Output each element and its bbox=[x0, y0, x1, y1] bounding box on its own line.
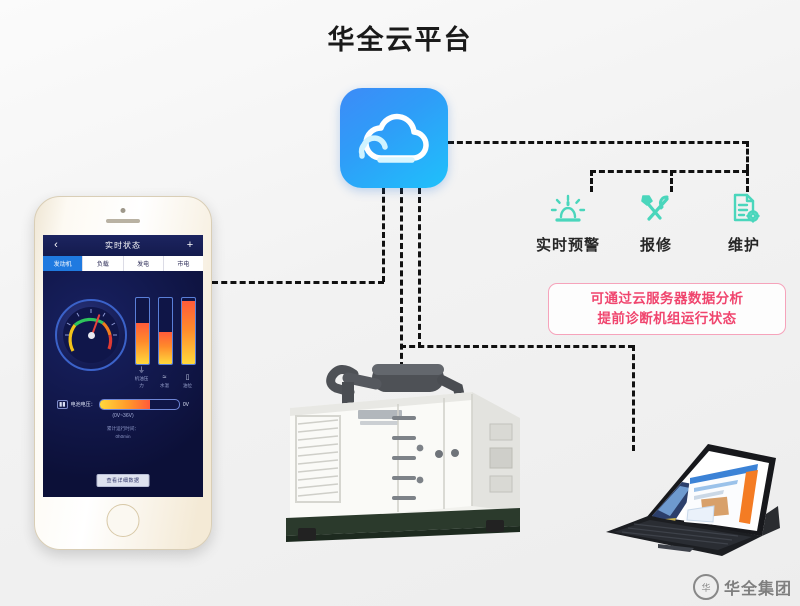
smartphone-device: ‹ 实时状态 + 发动机 负载 发电 市电 bbox=[34, 196, 212, 550]
service-item-alarm[interactable]: 实时预警 bbox=[528, 188, 608, 255]
app-tab-bar: 发动机 负载 发电 市电 bbox=[43, 256, 203, 271]
note-line-2: 提前诊断机组运行状态 bbox=[553, 309, 781, 329]
service-icon-group: 实时预警 报修 bbox=[528, 188, 784, 258]
tab-generation[interactable]: 发电 bbox=[124, 256, 164, 271]
battery-voltage-value: 0V bbox=[183, 402, 189, 408]
watermark-logo-icon: 华 bbox=[693, 574, 719, 600]
battery-icon: ▮▮ bbox=[57, 400, 68, 409]
oil-pressure-icon: ⏚ bbox=[133, 366, 150, 375]
add-icon[interactable]: + bbox=[183, 240, 197, 251]
tab-engine[interactable]: 发动机 bbox=[43, 256, 83, 271]
tab-load[interactable]: 负载 bbox=[83, 256, 123, 271]
service-label-alarm: 实时预警 bbox=[528, 234, 608, 255]
connector-cloud-to-phone bbox=[212, 281, 384, 284]
view-detail-button[interactable]: 查看详细数据 bbox=[96, 474, 149, 487]
bar-gauge-group: ⏚ 机油压力 ≈ 水温 ▯ 油位 bbox=[135, 293, 197, 389]
connector-cloud-down-a bbox=[382, 188, 385, 282]
front-camera bbox=[121, 208, 126, 213]
analysis-note-box: 可通过云服务器数据分析 提前诊断机组运行状态 bbox=[548, 283, 786, 335]
bar-fuel-level bbox=[181, 297, 196, 365]
note-line-1: 可通过云服务器数据分析 bbox=[553, 289, 781, 309]
gauge-hub bbox=[88, 332, 95, 339]
battery-label: 电池电压： bbox=[71, 401, 96, 408]
bar-water-temp bbox=[158, 297, 173, 365]
home-button[interactable] bbox=[107, 504, 140, 537]
connector-generator-to-tablet-h bbox=[400, 345, 634, 348]
bar-fill bbox=[159, 332, 172, 364]
service-label-repair: 报修 bbox=[616, 234, 696, 255]
cloud-platform-icon[interactable] bbox=[340, 88, 448, 188]
diesel-generator-set bbox=[276, 352, 538, 548]
bar-fill bbox=[182, 301, 195, 364]
diagram-canvas: 华全云平台 bbox=[0, 0, 800, 606]
connector-services-bus-down bbox=[746, 141, 749, 170]
bar-oil-pressure bbox=[135, 297, 150, 365]
battery-voltage-row: ▮▮ 电池电压： 0V bbox=[57, 399, 189, 410]
runtime-label: 累计运行时间： bbox=[43, 425, 203, 433]
service-item-repair[interactable]: 报修 bbox=[616, 188, 696, 255]
bar-label-fuel-level: ▯ 油位 bbox=[179, 373, 196, 389]
document-gear-icon bbox=[704, 188, 784, 230]
bar-text: 机油压力 bbox=[133, 375, 150, 389]
water-temp-icon: ≈ bbox=[156, 373, 173, 382]
connector-services-bus-h bbox=[590, 170, 748, 173]
app-title: 实时状态 bbox=[63, 240, 183, 251]
battery-voltage-range: (0V~36V) bbox=[43, 413, 203, 419]
page-title: 华全云平台 bbox=[0, 18, 800, 57]
connector-cloud-down-c bbox=[418, 188, 421, 348]
app-navbar: ‹ 实时状态 + bbox=[43, 235, 203, 256]
service-label-maintain: 维护 bbox=[704, 234, 784, 255]
fuel-level-icon: ▯ bbox=[179, 373, 196, 382]
service-item-maintain[interactable]: 维护 bbox=[704, 188, 784, 255]
battery-voltage-fill bbox=[100, 400, 151, 409]
bar-label-water-temp: ≈ 水温 bbox=[156, 373, 173, 389]
runtime-info: 累计运行时间： 0h0min bbox=[43, 425, 203, 441]
bar-text: 水温 bbox=[156, 382, 173, 389]
rpm-gauge bbox=[55, 299, 127, 371]
connector-cloud-to-services-h bbox=[448, 141, 748, 144]
bar-text: 油位 bbox=[179, 382, 196, 389]
bar-label-oil-pressure: ⏚ 机油压力 bbox=[133, 366, 150, 389]
watermark: 华 华全集团 bbox=[693, 574, 792, 600]
bar-fill bbox=[136, 323, 149, 364]
battery-voltage-track bbox=[99, 399, 180, 410]
watermark-text: 华全集团 bbox=[724, 575, 792, 599]
alarm-siren-icon bbox=[528, 188, 608, 230]
wrench-hammer-icon bbox=[616, 188, 696, 230]
side-panel bbox=[490, 424, 512, 492]
connector-cloud-down-b bbox=[400, 188, 403, 368]
tablet-laptop-device bbox=[598, 432, 798, 560]
earpiece-speaker bbox=[106, 219, 140, 223]
runtime-value: 0h0min bbox=[43, 433, 203, 441]
back-icon[interactable]: ‹ bbox=[49, 240, 63, 251]
phone-screen[interactable]: ‹ 实时状态 + 发动机 负载 发电 市电 bbox=[43, 235, 203, 497]
app-dashboard: ⏚ 机油压力 ≈ 水温 ▯ 油位 bbox=[43, 271, 203, 497]
cloud-glyph bbox=[340, 88, 448, 188]
tab-mains[interactable]: 市电 bbox=[164, 256, 203, 271]
